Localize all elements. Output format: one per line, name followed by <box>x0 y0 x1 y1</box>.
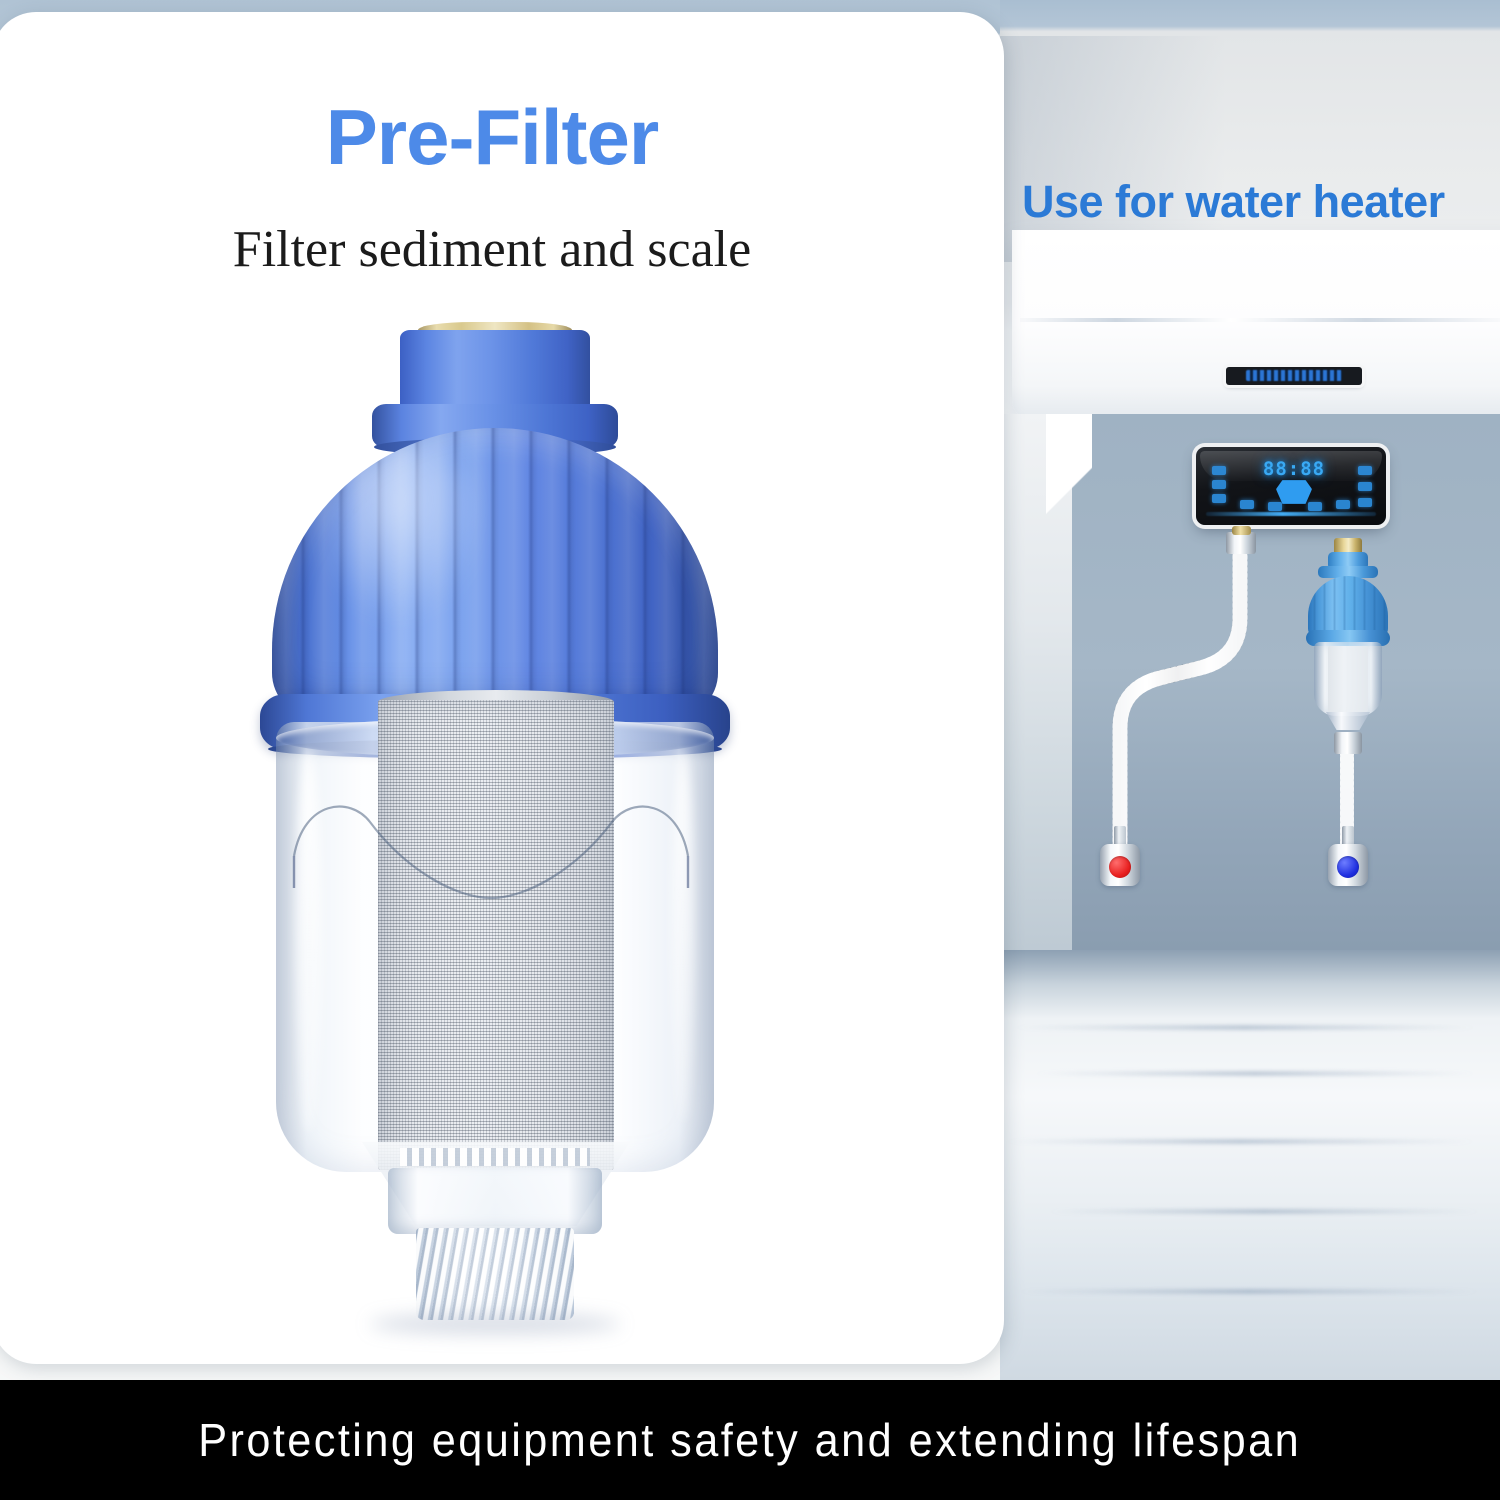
filter-dome-cap <box>272 428 718 718</box>
bathroom-floor <box>1000 950 1500 1380</box>
floor-streak-3 <box>1000 1140 1480 1143</box>
flexible-hose-group <box>1000 420 1500 960</box>
floor-streak-5 <box>1014 1290 1484 1293</box>
dome-highlight <box>334 445 486 625</box>
hose-left-corrugation <box>1120 538 1240 850</box>
floor-streak-2 <box>1030 1072 1480 1075</box>
floor-streak-1 <box>1010 1026 1480 1029</box>
funnel-tabs <box>400 1148 590 1166</box>
heater-body-crease <box>1020 318 1500 322</box>
hose-right-union-nut <box>1334 732 1362 754</box>
bowl-highlight-right <box>672 752 694 1122</box>
mesh-screen <box>378 700 614 1170</box>
dome-ribs <box>272 428 718 718</box>
banner-tagline: Protecting equipment safety and extendin… <box>199 1413 1302 1467</box>
cold-valve-cap <box>1337 856 1359 878</box>
scene-heading: Use for water heater <box>1022 176 1500 228</box>
wall-shading <box>1000 36 1500 262</box>
outlet-shoulder <box>388 1168 602 1234</box>
hose-left-brass-nut <box>1232 526 1251 535</box>
page-subtitle: Filter sediment and scale <box>0 224 992 276</box>
cold-water-valve[interactable] <box>1322 840 1374 890</box>
hose-left-top-fitting <box>1226 532 1256 554</box>
floor-streak-4 <box>1044 1210 1484 1213</box>
water-heater-body <box>1012 230 1500 420</box>
marketing-image-stage: 88:88 <box>0 0 1500 1500</box>
page-title: Pre-Filter <box>0 98 992 176</box>
water-heater-scene-panel: 88:88 <box>1000 0 1500 1380</box>
outlet-thread <box>416 1228 574 1320</box>
hot-water-valve[interactable] <box>1094 840 1146 890</box>
product-card: Pre-Filter Filter sediment and scale <box>0 12 1004 1364</box>
bowl-highlight-left <box>296 752 322 1132</box>
heater-led-text <box>1246 370 1342 381</box>
product-drop-shadow <box>370 1314 620 1334</box>
bottom-banner: Protecting equipment safety and extendin… <box>0 1380 1500 1500</box>
pre-filter-product-image <box>250 322 740 1312</box>
hot-valve-cap <box>1109 856 1131 878</box>
